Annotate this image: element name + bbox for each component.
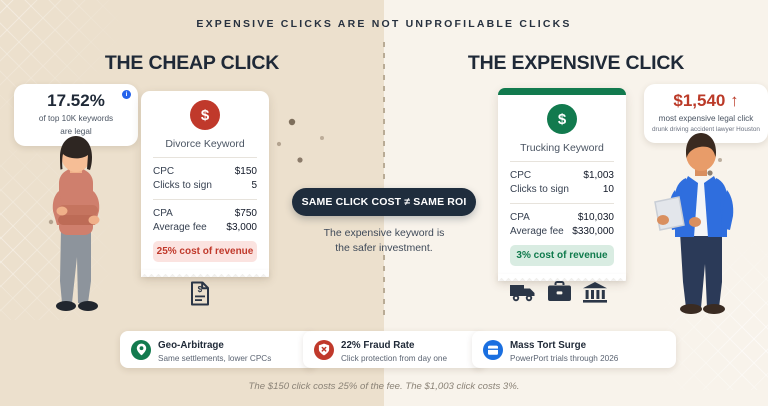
- invoice-dollar-icon: $: [190, 281, 210, 306]
- card-accent-bar: [498, 88, 626, 95]
- metric-label: Clicks to sign: [153, 180, 212, 191]
- metric-value: 5: [251, 180, 257, 191]
- metric-label: CPC: [510, 170, 531, 181]
- divider-rule: [510, 161, 614, 162]
- chip-subtitle: Click protection from day one: [341, 354, 447, 364]
- left-column-title: THE CHEAP CLICK: [0, 52, 384, 75]
- feature-chip-geo-arbitrage[interactable]: Geo-Arbitrage Same settlements, lower CP…: [120, 331, 316, 368]
- briefcase-icon: [547, 281, 572, 303]
- left-loose-icons: $: [190, 281, 210, 306]
- keyword-name-left: Divorce Keyword: [153, 138, 257, 150]
- metric-value: $3,000: [226, 222, 257, 233]
- shield-x-icon: [314, 340, 334, 360]
- divider-rule: [153, 157, 257, 158]
- info-icon[interactable]: i: [122, 90, 131, 99]
- metric-label: Average fee: [153, 222, 207, 233]
- bank-icon: [582, 281, 608, 303]
- metric-row: CPC $1,003: [510, 168, 614, 182]
- center-caption-line2: the safer investment.: [292, 241, 476, 256]
- vertical-dashed-divider-lower: [383, 255, 385, 317]
- feature-chip-fraud-rate[interactable]: 22% Fraud Rate Click protection from day…: [303, 331, 485, 368]
- right-column-title: THE EXPENSIVE CLICK: [384, 52, 768, 75]
- footer-note: The $150 click costs 25% of the fee. The…: [0, 381, 768, 392]
- chip-text: Geo-Arbitrage Same settlements, lower CP…: [158, 335, 271, 364]
- divider-rule: [153, 199, 257, 200]
- metric-label: CPC: [153, 166, 174, 177]
- chip-subtitle: Same settlements, lower CPCs: [158, 354, 271, 364]
- center-caption-line1: The expensive keyword is: [292, 226, 476, 241]
- center-statement-pill: SAME CLICK COST ≠ SAME ROI: [292, 188, 476, 216]
- decorative-dots-left: [270, 108, 340, 188]
- feature-chip-mass-tort-surge[interactable]: Mass Tort Surge PowerPort trials through…: [472, 331, 676, 368]
- infographic-canvas: EXPENSIVE CLICKS ARE NOT UNPROFILABLE CL…: [0, 0, 768, 406]
- metric-label: Average fee: [510, 226, 564, 237]
- metric-row: CPA $750: [153, 206, 257, 220]
- metric-label: CPA: [510, 212, 530, 223]
- cost-of-revenue-badge-right: 3% cost of revenue: [510, 245, 614, 266]
- dollar-coin-icon: $: [190, 100, 220, 130]
- right-loose-icons: [509, 281, 608, 303]
- chip-title: 22% Fraud Rate: [341, 340, 415, 351]
- kicker-headline: EXPENSIVE CLICKS ARE NOT UNPROFILABLE CL…: [0, 18, 768, 30]
- stat-caption-right-line1: most expensive legal click: [649, 114, 763, 124]
- calendar-icon: [483, 340, 503, 360]
- metric-value: 10: [603, 184, 614, 195]
- chip-text: Mass Tort Surge PowerPort trials through…: [510, 335, 618, 364]
- receipt-torn-edge: [141, 270, 269, 277]
- metric-value: $330,000: [572, 226, 614, 237]
- location-pin-icon: [131, 340, 151, 360]
- keyword-card-expensive: $ Trucking Keyword CPC $1,003 Clicks to …: [498, 88, 626, 281]
- metric-label: Clicks to sign: [510, 184, 569, 195]
- chip-text: 22% Fraud Rate Click protection from day…: [341, 335, 447, 364]
- keyword-name-right: Trucking Keyword: [510, 142, 614, 154]
- metric-row: Average fee $330,000: [510, 224, 614, 238]
- illustration-man-with-tablet: [650, 128, 750, 316]
- divider-rule: [510, 203, 614, 204]
- stat-value-left: 17.52%: [20, 92, 132, 111]
- metric-row: Clicks to sign 10: [510, 182, 614, 196]
- metric-row: CPC $150: [153, 164, 257, 178]
- metric-value: $750: [235, 208, 257, 219]
- dollar-coin-icon: $: [547, 104, 577, 134]
- metric-row: Clicks to sign 5: [153, 178, 257, 192]
- keyword-card-cheap: $ Divorce Keyword CPC $150 Clicks to sig…: [141, 91, 269, 277]
- metric-row: Average fee $3,000: [153, 220, 257, 234]
- truck-icon: [509, 281, 537, 303]
- chip-subtitle: PowerPort trials through 2026: [510, 354, 618, 364]
- center-caption: The expensive keyword is the safer inves…: [292, 226, 476, 256]
- metric-row: CPA $10,030: [510, 210, 614, 224]
- metric-value: $10,030: [578, 212, 614, 223]
- stat-value-right: $1,540 ↑: [649, 92, 763, 111]
- metric-label: CPA: [153, 208, 173, 219]
- illustration-woman-arms-crossed: [14, 133, 110, 313]
- chip-title: Geo-Arbitrage: [158, 340, 224, 351]
- metric-value: $150: [235, 166, 257, 177]
- svg-text:$: $: [198, 285, 203, 294]
- chip-title: Mass Tort Surge: [510, 340, 586, 351]
- stat-caption-left-line1: of top 10K keywords: [20, 114, 132, 124]
- cost-of-revenue-badge-left: 25% cost of revenue: [153, 241, 257, 262]
- receipt-torn-edge: [498, 274, 626, 281]
- metric-value: $1,003: [583, 170, 614, 181]
